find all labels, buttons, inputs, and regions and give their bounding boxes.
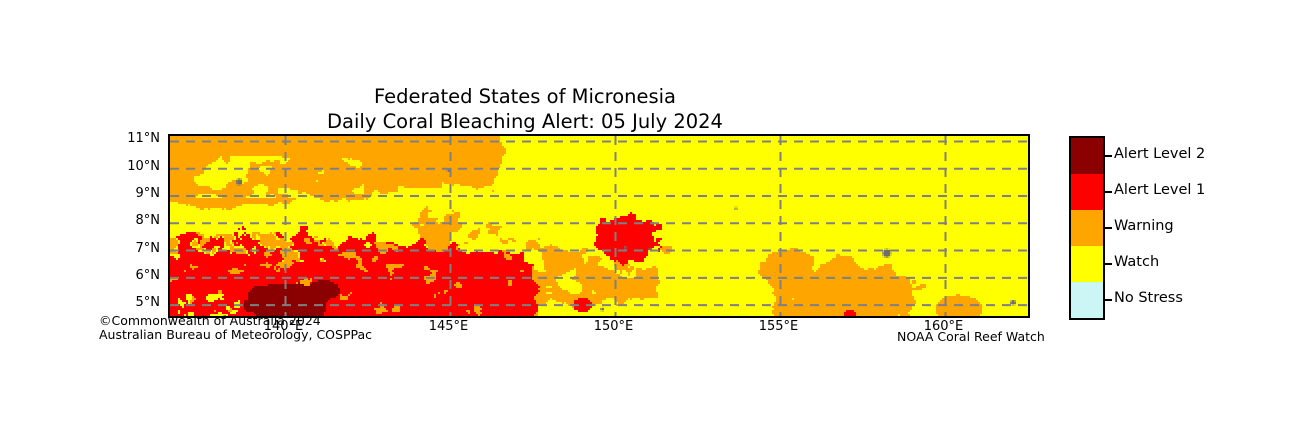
coral-bleaching-alert-figure: Federated States of Micronesia Daily Cor… — [0, 0, 1293, 447]
x-tick-label: 155°E — [739, 319, 819, 334]
legend-label: Warning — [1114, 219, 1174, 234]
legend-swatch[interactable] — [1071, 282, 1103, 318]
credit-agency: Australian Bureau of Meteorology, COSPPa… — [99, 328, 372, 342]
y-tick-label: 9°N — [96, 186, 160, 201]
legend-label: Watch — [1114, 255, 1159, 270]
y-tick-label: 11°N — [96, 131, 160, 146]
x-tick-label: 145°E — [409, 319, 489, 334]
title-line-country: Federated States of Micronesia — [0, 84, 1050, 109]
legend-label: No Stress — [1114, 291, 1183, 306]
credit-noaa: NOAA Coral Reef Watch — [897, 329, 1045, 344]
x-tick-label: 150°E — [574, 319, 654, 334]
legend-tick-mark — [1103, 263, 1112, 265]
legend-swatch[interactable] — [1071, 174, 1103, 210]
legend-colorbar[interactable] — [1069, 136, 1105, 320]
map-plot-area[interactable] — [168, 134, 1030, 318]
legend-swatch[interactable] — [1071, 138, 1103, 174]
legend-tick-mark — [1103, 227, 1112, 229]
y-tick-label: 5°N — [96, 295, 160, 310]
y-tick-label: 7°N — [96, 241, 160, 256]
y-tick-label: 6°N — [96, 268, 160, 283]
legend-tick-mark — [1103, 155, 1112, 157]
coral-alert-raster — [170, 136, 1028, 316]
legend-tick-mark — [1103, 191, 1112, 193]
legend-label: Alert Level 1 — [1114, 183, 1205, 198]
legend-label: Alert Level 2 — [1114, 147, 1205, 162]
chart-title: Federated States of Micronesia Daily Cor… — [0, 84, 1050, 134]
title-line-subtitle: Daily Coral Bleaching Alert: 05 July 202… — [0, 109, 1050, 134]
legend-swatch[interactable] — [1071, 210, 1103, 246]
y-tick-label: 10°N — [96, 159, 160, 174]
y-tick-label: 8°N — [96, 213, 160, 228]
credit-copyright: ©Commonwealth of Australia 2024 — [99, 314, 372, 328]
legend-swatch[interactable] — [1071, 246, 1103, 282]
credit-bom: ©Commonwealth of Australia 2024 Australi… — [99, 314, 372, 342]
legend-tick-mark — [1103, 299, 1112, 301]
